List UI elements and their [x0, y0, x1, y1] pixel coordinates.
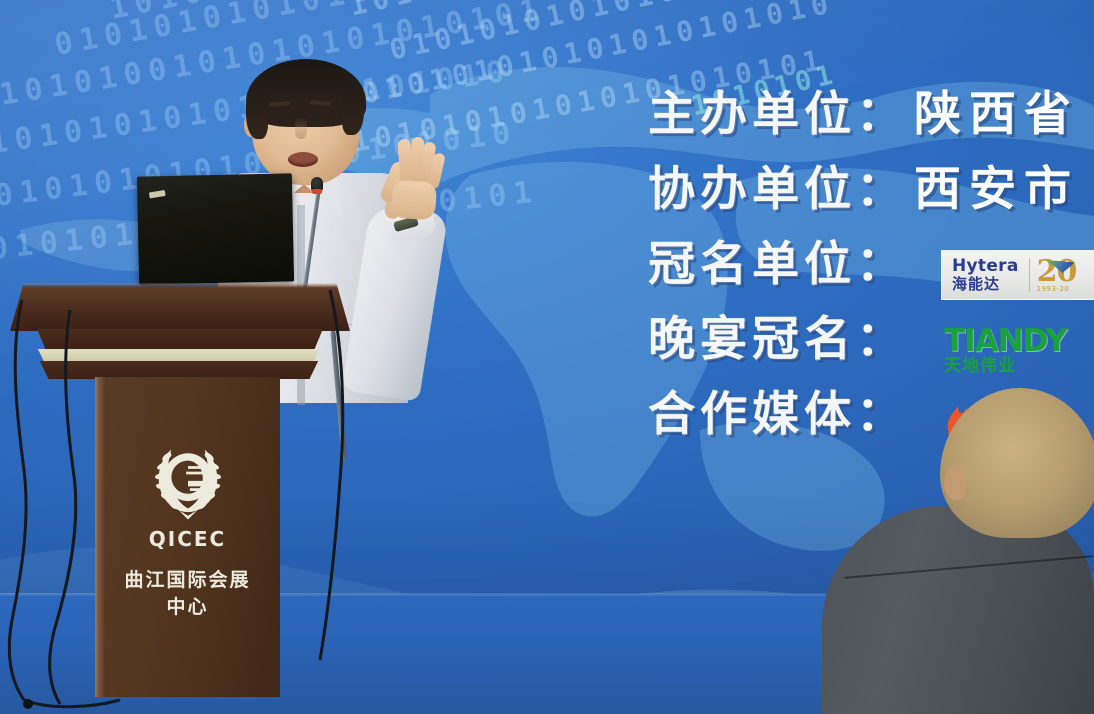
speaker-hair-side-right [342, 89, 364, 135]
banner-label: 晚宴冠名： [648, 300, 908, 369]
banner-row-co-organizer: 协办单位： 西安市 [648, 147, 1094, 222]
palm-base [391, 180, 438, 221]
tiandy-name-en: TIANDY [944, 326, 1094, 357]
banner-label: 冠名单位： [648, 225, 908, 294]
speaker-hair-side-left [246, 89, 268, 139]
speaker-raised-hand-gesture [386, 137, 444, 219]
hytera-wordmark: Hytera 海能达 [942, 256, 1025, 294]
speaker-eye-right [312, 110, 329, 116]
banner-value: 西安市 [914, 150, 1079, 219]
banner-value: 陕西省 [914, 75, 1079, 144]
banner-label: 主办单位： [648, 75, 908, 144]
speaker-nose [295, 117, 307, 139]
photo-scene: 1010101010101010101010 01010101010101010… [0, 0, 1094, 714]
banner-label: 协办单位： [648, 150, 908, 219]
audience-ear [944, 466, 966, 500]
audience-member [822, 388, 1094, 714]
hytera-name-en: Hytera [952, 258, 1019, 275]
speaker-mouth-speaking [288, 152, 318, 167]
hytera-name-cn: 海能达 [952, 277, 1019, 292]
audience-head-back [940, 388, 1094, 538]
speaker-eye-left [271, 111, 288, 117]
audience-jacket [822, 506, 1094, 714]
hytera-logo: Hytera 海能达 20 1993-20 [941, 250, 1094, 300]
tiandy-logo: TIANDY 天地伟业 [944, 326, 1094, 382]
laptop-closed-lid [137, 173, 294, 284]
tiandy-name-cn: 天地伟业 [944, 358, 1094, 375]
laptop-brand-label [149, 190, 166, 198]
logo-divider [1029, 258, 1030, 292]
microphone-indicator-light [312, 189, 322, 194]
floor-cables [0, 280, 360, 714]
banner-row-organizer: 主办单位： 陕西省 [648, 72, 1094, 147]
